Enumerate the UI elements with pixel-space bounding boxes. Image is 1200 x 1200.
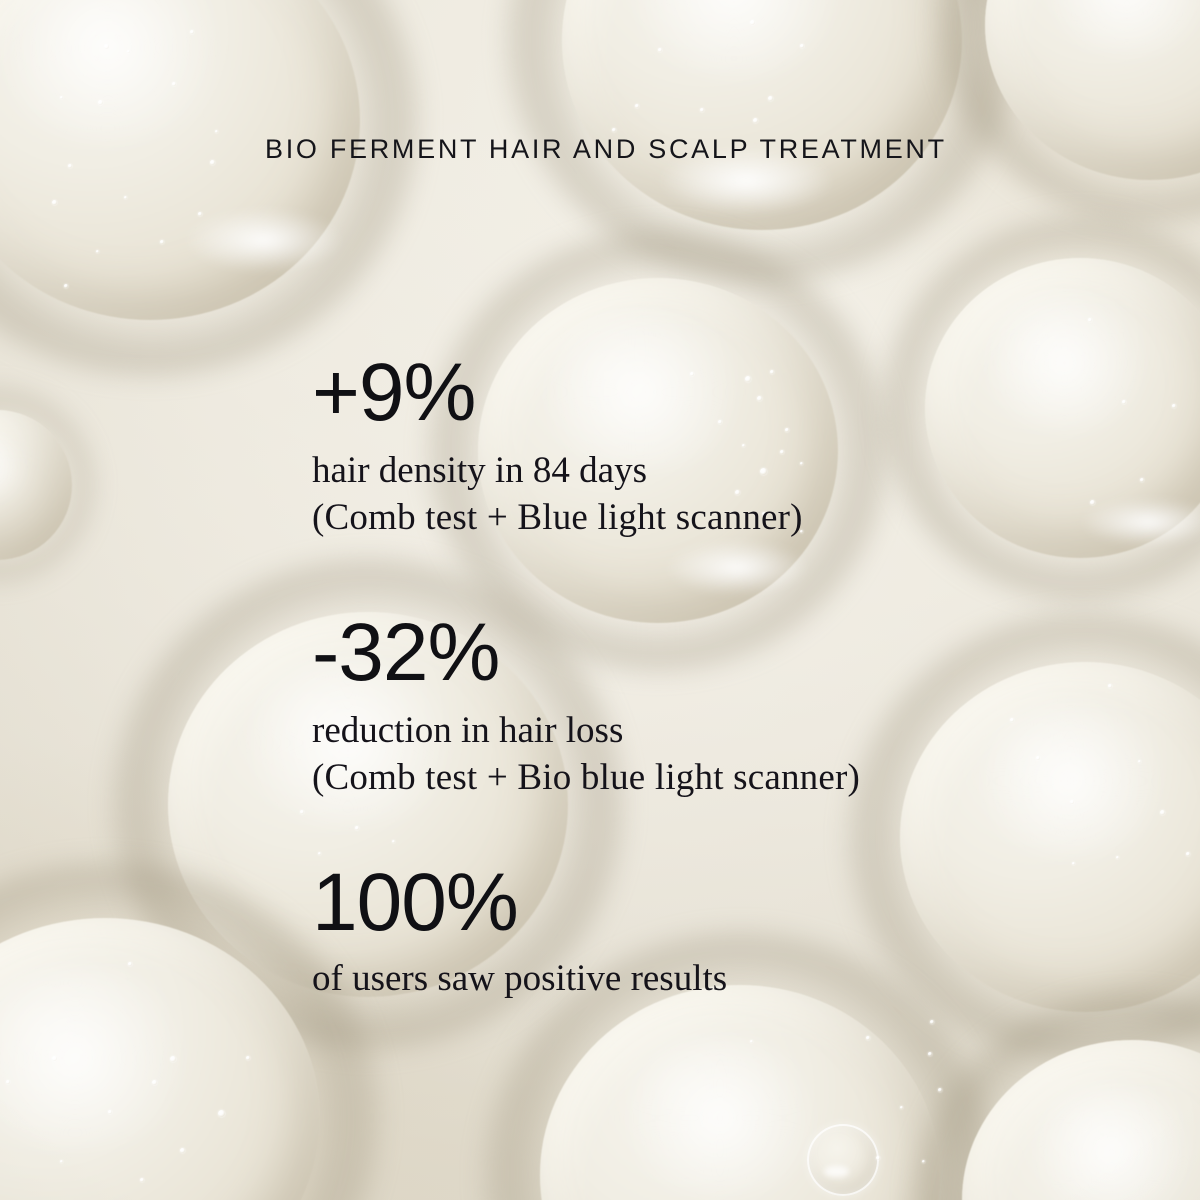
- stat-description: of users saw positive results: [312, 956, 727, 1003]
- stat-description: hair density in 84 days: [312, 448, 803, 495]
- stat-value: 100%: [312, 862, 727, 944]
- stat-method: (Comb test + Bio blue light scanner): [312, 755, 860, 802]
- stat-method: (Comb test + Blue light scanner): [312, 495, 803, 542]
- stat-value: -32%: [312, 612, 860, 694]
- stat-value: +9%: [312, 352, 803, 434]
- product-claims-poster: BIO FERMENT HAIR AND SCALP TREATMENT +9%…: [0, 0, 1200, 1200]
- product-title: BIO FERMENT HAIR AND SCALP TREATMENT: [265, 134, 947, 165]
- stat-block-hair-density: +9% hair density in 84 days (Comb test +…: [312, 352, 803, 541]
- stat-description: reduction in hair loss: [312, 708, 860, 755]
- poster-content: BIO FERMENT HAIR AND SCALP TREATMENT +9%…: [0, 0, 1200, 1200]
- stat-block-positive-results: 100% of users saw positive results: [312, 862, 727, 1003]
- stat-block-hair-loss: -32% reduction in hair loss (Comb test +…: [312, 612, 860, 801]
